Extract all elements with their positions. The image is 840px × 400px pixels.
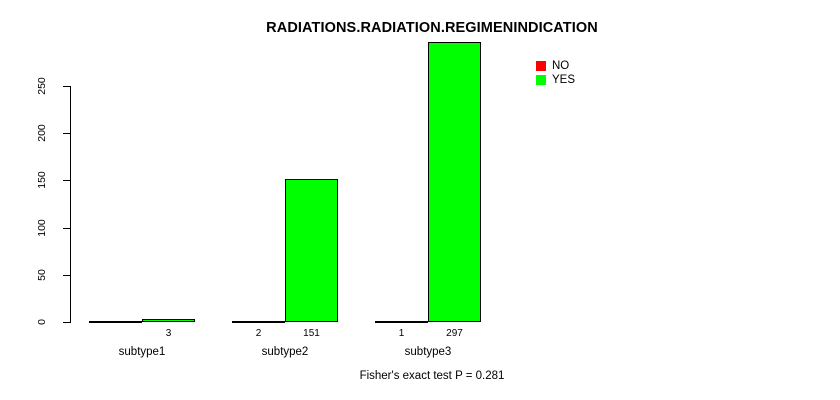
legend-swatch-yes — [536, 75, 546, 85]
legend-item-yes: YES — [536, 73, 575, 87]
x-axis-group-label-subtype1: subtype1 — [89, 344, 195, 360]
bar-subtype3-yes — [428, 42, 481, 322]
legend-item-no: NO — [536, 59, 575, 73]
bar-subtype2-yes — [285, 179, 338, 322]
bar-value-label: 2 — [232, 327, 285, 341]
bar-subtype1-no — [89, 321, 142, 323]
bar-subtype2-no — [232, 321, 285, 323]
legend-label: NO — [552, 59, 569, 73]
legend-label: YES — [552, 73, 575, 87]
x-axis-group-label-subtype2: subtype2 — [232, 344, 338, 360]
legend: NOYES — [536, 59, 575, 87]
bar-subtype3-no — [375, 321, 428, 323]
bar-value-label: 3 — [142, 327, 195, 341]
chart-canvas: RADIATIONS.RADIATION.REGIMENINDICATION n… — [0, 0, 840, 400]
bar-value-label: 297 — [428, 327, 481, 341]
legend-swatch-no — [536, 61, 546, 71]
bar-subtype1-yes — [142, 319, 195, 322]
statistical-test-annotation: Fisher's exact test P = 0.281 — [0, 370, 840, 382]
bar-value-label: 151 — [285, 327, 338, 341]
bar-value-label: 1 — [375, 327, 428, 341]
plot-area: 3subtype12151subtype21297subtype3 — [0, 0, 840, 400]
x-axis-group-label-subtype3: subtype3 — [375, 344, 481, 360]
